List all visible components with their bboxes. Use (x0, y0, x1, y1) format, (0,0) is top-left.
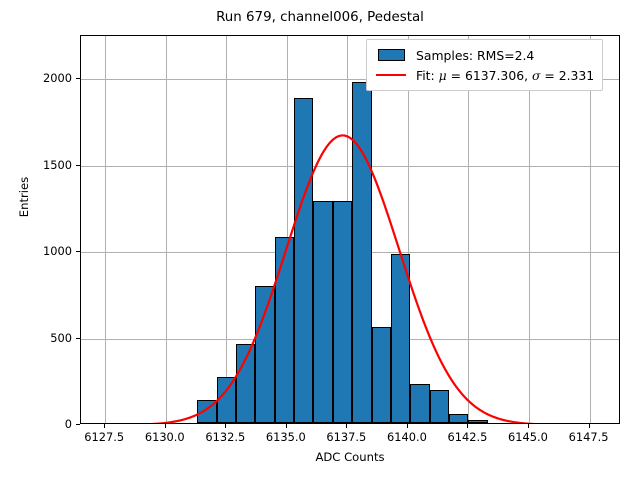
gridline-vertical-2 (226, 36, 227, 423)
histogram-bar (333, 201, 352, 423)
gridline-vertical-1 (166, 36, 167, 423)
y-tick-label: 2000 (43, 71, 72, 85)
x-tick-mark-3 (286, 424, 287, 428)
histogram-bar (391, 254, 410, 423)
legend-fit-prefix: Fit: (416, 68, 439, 83)
histogram-bar (275, 237, 294, 423)
histogram-bar (468, 420, 487, 423)
legend-label-samples: Samples: RMS=2.4 (408, 48, 534, 63)
x-tick-label: 6130.0 (145, 430, 185, 444)
x-tick-mark-5 (407, 424, 408, 428)
x-tick-mark-8 (589, 424, 590, 428)
page-title: Run 679, channel006, Pedestal (0, 10, 640, 25)
x-axis-label: ADC Counts (80, 450, 620, 464)
x-tick-label: 6140.0 (387, 430, 427, 444)
x-tick-mark-4 (346, 424, 347, 428)
figure-canvas: Run 679, channel006, Pedestal 6127.56130… (0, 0, 640, 480)
y-tick-mark-0 (76, 424, 80, 425)
x-tick-label: 6145.0 (508, 430, 548, 444)
histogram-bar (449, 414, 468, 424)
x-tick-mark-6 (467, 424, 468, 428)
legend: Samples: RMS=2.4 Fit: μ = 6137.306, σ = … (366, 39, 603, 91)
y-tick-mark-4 (76, 78, 80, 79)
y-axis-label: Entries (17, 157, 31, 237)
x-tick-label: 6132.5 (205, 430, 245, 444)
histogram-bar (352, 82, 371, 423)
legend-patch-icon (374, 45, 408, 65)
y-tick-mark-2 (76, 251, 80, 252)
histogram-bar (410, 384, 429, 423)
histogram-bar (217, 377, 236, 423)
plot-area (80, 35, 620, 424)
gridline-vertical-6 (468, 36, 469, 423)
gridline-vertical-8 (590, 36, 591, 423)
x-tick-mark-0 (104, 424, 105, 428)
legend-fit-sigma-value: = 2.331 (540, 68, 594, 83)
y-tick-label: 0 (65, 417, 72, 431)
x-tick-label: 6135.0 (266, 430, 306, 444)
histogram-bar (372, 327, 391, 423)
histogram-bar (255, 286, 274, 423)
gridline-vertical-0 (105, 36, 106, 423)
histogram-bar (197, 400, 216, 423)
histogram-bar (430, 390, 449, 423)
x-tick-label: 6147.5 (569, 430, 609, 444)
y-tick-label: 500 (50, 331, 72, 345)
gridline-horizontal-3 (81, 166, 619, 167)
x-tick-label: 6127.5 (84, 430, 124, 444)
legend-entry-samples: Samples: RMS=2.4 (374, 45, 594, 65)
legend-entry-fit: Fit: μ = 6137.306, σ = 2.331 (374, 65, 594, 85)
x-tick-mark-1 (165, 424, 166, 428)
histogram-bar (313, 201, 332, 423)
legend-fit-mu-value: = 6137.306, (447, 68, 532, 83)
histogram-bar (294, 98, 313, 423)
y-tick-label: 1500 (43, 158, 72, 172)
x-tick-mark-7 (528, 424, 529, 428)
histogram-bar (236, 344, 255, 423)
y-tick-mark-1 (76, 338, 80, 339)
x-tick-mark-2 (225, 424, 226, 428)
y-tick-mark-3 (76, 165, 80, 166)
x-tick-label: 6137.5 (326, 430, 366, 444)
legend-fit-mu-symbol: μ (439, 68, 447, 83)
y-tick-label: 1000 (43, 244, 72, 258)
legend-label-fit: Fit: μ = 6137.306, σ = 2.331 (408, 68, 594, 83)
gridline-vertical-7 (529, 36, 530, 423)
x-tick-label: 6142.5 (448, 430, 488, 444)
legend-line-icon (374, 65, 408, 85)
